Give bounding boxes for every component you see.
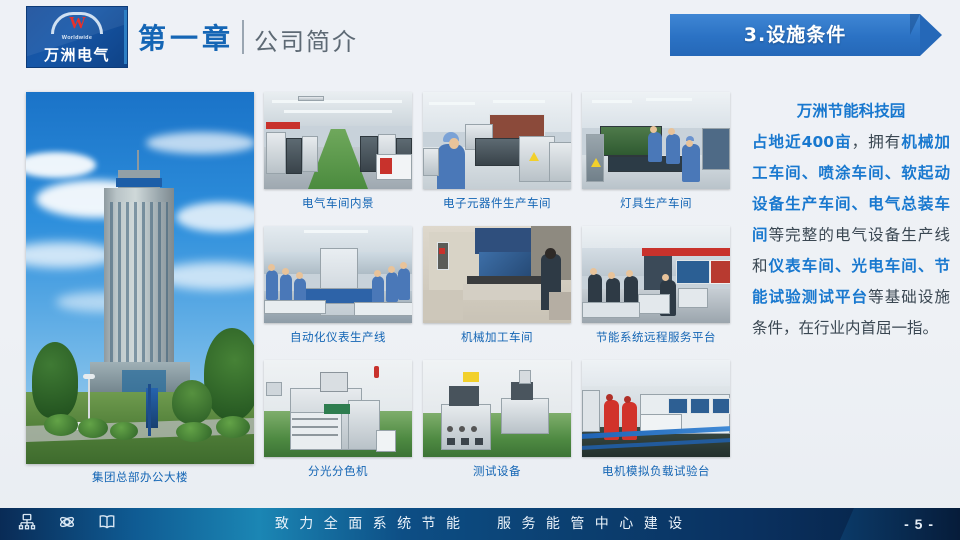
- page-number: - 5 -: [904, 508, 934, 540]
- slide: W Worldwide 万洲电气 第一章 公司简介 3.设施条件: [0, 0, 960, 540]
- photo-motor-load-test-bench: [582, 360, 730, 457]
- body-paragraph: 万洲节能科技园占地近400亩，拥有机械加工车间、喷涂车间、软起动设备生产车间、电…: [752, 96, 950, 344]
- photo-caption: 节能系统远程服务平台: [582, 329, 730, 345]
- grid-cell: 电子元器件生产车间: [423, 92, 571, 211]
- photo-caption: 电机模拟负载试验台: [582, 463, 730, 479]
- slide-header: W Worldwide 万洲电气 第一章 公司简介 3.设施条件: [0, 0, 960, 75]
- grid-cell: 自动化仪表生产线: [264, 226, 412, 345]
- photo-caption: 自动化仪表生产线: [264, 329, 412, 345]
- body-lead: 万洲节能科技园: [752, 96, 950, 127]
- photo-electrical-workshop: [264, 92, 412, 189]
- logo-chinese-name: 万洲电气: [44, 44, 110, 65]
- section-banner-label: 3.设施条件: [670, 14, 920, 56]
- photo-caption: 机械加工车间: [423, 329, 571, 345]
- hero-photo-headquarters: [26, 92, 254, 464]
- photo-test-equipment: [423, 360, 571, 457]
- photo-lamp-production-workshop: [582, 92, 730, 189]
- body-seg-1: ，拥有: [852, 133, 902, 151]
- section-banner-arrow-icon: [920, 14, 942, 56]
- grid-cell: 电气车间内景: [264, 92, 412, 211]
- photo-caption: 分光分色机: [264, 463, 412, 479]
- header-divider-secondary: [242, 20, 244, 54]
- photo-machining-workshop: [423, 226, 571, 323]
- grid-cell: 分光分色机: [264, 360, 412, 479]
- logo-latin-name: Worldwide: [62, 35, 92, 41]
- footer-slogan: 致 力 全 面 系 统 节 能 服 务 能 管 中 心 建 设: [0, 508, 960, 540]
- body-seg-0: 占地近400亩: [752, 133, 852, 151]
- grid-cell: 机械加工车间: [423, 226, 571, 345]
- photo-electronic-components-workshop: [423, 92, 571, 189]
- photo-caption: 电子元器件生产车间: [423, 195, 571, 211]
- chapter-subtitle: 公司简介: [254, 22, 358, 57]
- photo-caption: 电气车间内景: [264, 195, 412, 211]
- slide-footer: 致 力 全 面 系 统 节 能 服 务 能 管 中 心 建 设 - 5 -: [0, 508, 960, 540]
- photo-grid: 电气车间内景 电子元器件生产车间: [264, 92, 730, 472]
- photo-automated-instrument-line: [264, 226, 412, 323]
- grid-cell: 电机模拟负载试验台: [582, 360, 730, 479]
- grid-cell: 节能系统远程服务平台: [582, 226, 730, 345]
- section-banner: 3.设施条件: [670, 14, 942, 56]
- logo-emblem-letter: W: [51, 13, 103, 33]
- logo-emblem-icon: W: [51, 12, 103, 34]
- photo-caption: 灯具生产车间: [582, 195, 730, 211]
- hero-photo-caption: 集团总部办公大楼: [26, 469, 254, 485]
- photo-caption: 测试设备: [423, 463, 571, 479]
- chapter-title: 第一章: [138, 17, 234, 57]
- company-logo: W Worldwide 万洲电气: [26, 6, 128, 68]
- header-divider-primary: [124, 10, 127, 64]
- grid-cell: 灯具生产车间: [582, 92, 730, 211]
- photo-remote-service-platform: [582, 226, 730, 323]
- photo-spectro-color-sorter: [264, 360, 412, 457]
- grid-cell: 测试设备: [423, 360, 571, 479]
